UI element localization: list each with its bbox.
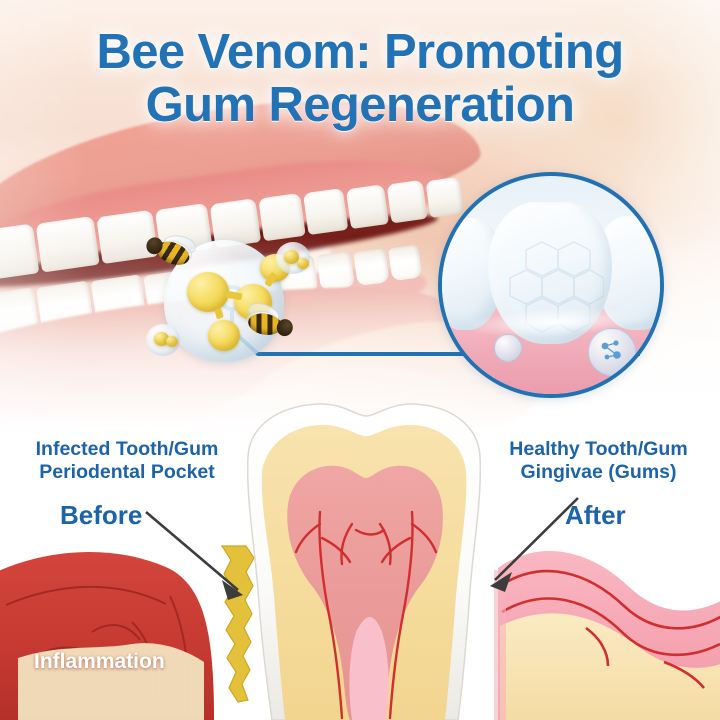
molecule-sphere <box>166 336 178 347</box>
bubble-small <box>494 334 522 362</box>
label-healthy-line-1: Healthy Tooth/Gum <box>486 438 711 461</box>
molecule-sphere <box>187 272 229 312</box>
bee-upper-left <box>140 229 201 277</box>
healthy-gum <box>494 551 720 720</box>
label-infected: Infected Tooth/Gum Periodental Pocket <box>12 438 242 484</box>
label-inflammation: Inflammation <box>34 650 165 674</box>
molecule-sphere <box>297 258 309 269</box>
label-after: After <box>565 500 626 531</box>
poster-title: Bee Venom: Promoting Gum Regeneration <box>0 26 720 132</box>
label-infected-line-1: Infected Tooth/Gum <box>12 438 242 461</box>
molar-cross-section <box>248 404 481 720</box>
poster-canvas: Bee Venom: Promoting Gum Regeneration <box>0 0 720 720</box>
title-line-1: Bee Venom: Promoting <box>0 26 720 79</box>
molecule-sphere <box>208 320 240 351</box>
plaque-deposits <box>222 546 254 702</box>
label-before: Before <box>60 500 142 531</box>
bee-venom-droplet-group <box>142 232 332 372</box>
label-healthy-line-2: Gingivae (Gums) <box>486 461 711 484</box>
label-infected-line-2: Periodental Pocket <box>12 461 242 484</box>
bubble-molecule-icon <box>597 337 625 365</box>
inflamed-gum <box>0 552 214 720</box>
magnified-tooth-gum-circle <box>438 172 664 398</box>
label-healthy: Healthy Tooth/Gum Gingivae (Gums) <box>486 438 711 484</box>
title-line-2: Gum Regeneration <box>0 79 720 132</box>
